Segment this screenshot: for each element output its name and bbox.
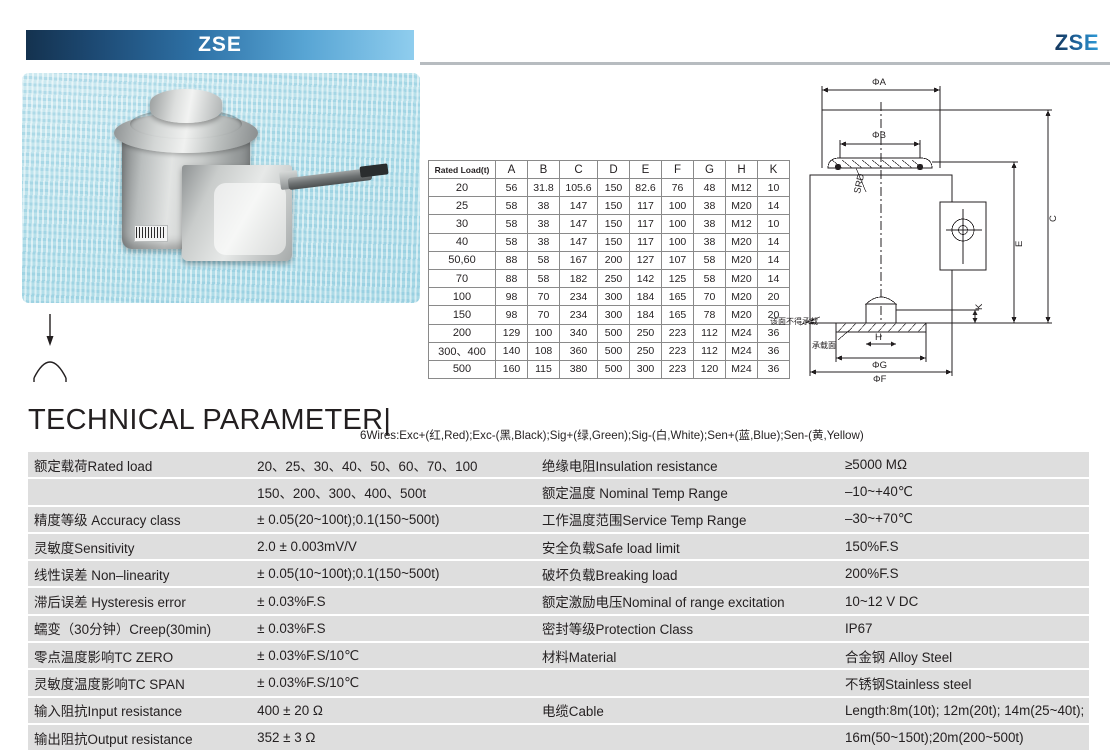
drawing-note-no-load: 该面不得承载 [770,316,818,326]
dimension-cell: M24 [726,342,758,360]
parameter-value: IP67 [839,615,1089,642]
parameter-row: 蠕变（30分钟）Creep(30min)± 0.03%F.S [28,615,536,642]
parameter-key: 电缆Cable [536,697,839,724]
dimension-cell: 165 [662,306,694,324]
parameter-row: 灵敏度Sensitivity2.0 ± 0.003mV/V [28,533,536,560]
parameter-row: 输入阻抗Input resistance400 ± 20 Ω [28,697,536,724]
dimension-cell: 300、400 [429,342,496,360]
dimension-cell: 150 [598,215,630,233]
parameter-value: 16m(50~150t);20m(200~500t) [839,724,1089,750]
dimension-cell: M24 [726,324,758,342]
dimension-cell: M20 [726,197,758,215]
parameter-value: 合金钢 Alloy Steel [839,642,1089,669]
drawing-label-phi-a: ΦA [872,77,887,88]
dimension-cell: 160 [496,360,528,378]
dimension-cell: 107 [662,251,694,269]
dimension-cell: 150 [598,197,630,215]
dimension-cell: 182 [560,269,598,287]
dimension-cell: 82.6 [630,179,662,197]
dimension-cell: 38 [694,215,726,233]
parameter-key: 材料Material [536,642,839,669]
dimension-cell: 58 [496,215,528,233]
parameter-key: 额定温度 Nominal Temp Range [536,478,839,505]
dimension-cell: 70 [528,306,560,324]
parameter-value: Length:8m(10t); 12m(20t); 14m(25~40t); [839,697,1089,724]
parameter-row: 绝缘电阻Insulation resistance≥5000 MΩ [536,452,1089,478]
parameter-key: 精度等级 Accuracy class [28,506,251,533]
parameter-value: ± 0.03%F.S [251,587,536,614]
parameter-row: 工作温度范围Service Temp Range–30~+70℃ [536,506,1089,533]
dimension-cell: 58 [496,233,528,251]
dimension-table: Rated Load(t)ABCDEFGHK205631.8105.615082… [428,160,790,379]
dimension-cell: 300 [630,360,662,378]
dimension-cell: 38 [528,197,560,215]
dimension-cell: 58 [496,197,528,215]
parameter-key [536,724,839,750]
dimension-table-row: 200129100340500250223112M2436 [429,324,790,342]
parameter-value: ± 0.05(20~100t);0.1(150~500t) [251,506,536,533]
parameter-key: 输入阻抗Input resistance [28,697,251,724]
dimension-cell: 340 [560,324,598,342]
dimension-col-header: E [630,161,662,179]
dimension-cell: 500 [598,360,630,378]
dimension-cell: 25 [429,197,496,215]
parameter-key: 零点温度影响TC ZERO [28,642,251,669]
dimension-cell: 500 [429,360,496,378]
dimension-cell: 120 [694,360,726,378]
parameter-table-right: 绝缘电阻Insulation resistance≥5000 MΩ额定温度 No… [536,452,1089,750]
parameter-value: 10~12 V DC [839,587,1089,614]
drawing-label-e: E [1014,241,1025,247]
dimension-cell: 250 [598,269,630,287]
dimension-cell: M20 [726,251,758,269]
parameter-value: ± 0.05(10~100t);0.1(150~500t) [251,560,536,587]
parameter-key: 安全负载Safe load limit [536,533,839,560]
parameter-value: 400 ± 20 Ω [251,697,536,724]
dimension-cell: 38 [694,197,726,215]
dimension-cell: 38 [528,233,560,251]
parameter-row: 16m(50~150t);20m(200~500t) [536,724,1089,750]
dimension-cell: 100 [429,288,496,306]
dimension-cell: 127 [630,251,662,269]
parameter-value: 200%F.S [839,560,1089,587]
dimension-cell: 250 [630,324,662,342]
dimension-table-row: 70885818225014212558M2014 [429,269,790,287]
dimension-cell: M20 [726,288,758,306]
dimension-cell: 300 [598,288,630,306]
parameter-row: 密封等级Protection ClassIP67 [536,615,1089,642]
dimension-cell: 112 [694,324,726,342]
dimension-cell: 38 [694,233,726,251]
dimension-cell: 30 [429,215,496,233]
parameter-value: 不锈钢Stainless steel [839,669,1089,696]
dimension-table-row: 25583814715011710038M2014 [429,197,790,215]
dimension-cell: 125 [662,269,694,287]
dimension-cell: 117 [630,215,662,233]
dimension-cell: 88 [496,269,528,287]
drawing-note-load-surface: 承载面 [812,340,836,350]
dimension-cell: 223 [662,342,694,360]
dimension-cell: 58 [528,269,560,287]
dimension-col-header: G [694,161,726,179]
parameter-value: ± 0.03%F.S [251,615,536,642]
parameter-key: 工作温度范围Service Temp Range [536,506,839,533]
dimension-cell: 40 [429,233,496,251]
dimension-cell: 150 [598,233,630,251]
dimension-cell: 50,60 [429,251,496,269]
parameter-key: 线性误差 Non–linearity [28,560,251,587]
dimension-table-row: 150987023430018416578M2020 [429,306,790,324]
dimension-cell: 360 [560,342,598,360]
dimension-cell: 150 [429,306,496,324]
parameter-row: 精度等级 Accuracy class± 0.05(20~100t);0.1(1… [28,506,536,533]
dimension-cell: 117 [630,197,662,215]
parameter-key: 灵敏度温度影响TC SPAN [28,669,251,696]
load-direction-symbol [28,312,88,382]
parameter-row: 材料Material合金钢 Alloy Steel [536,642,1089,669]
dimension-cell: 98 [496,288,528,306]
dimension-cell: 48 [694,179,726,197]
dimension-cell: 300 [598,306,630,324]
dimension-cell: 38 [528,215,560,233]
parameter-key: 输出阻抗Output resistance [28,724,251,750]
dimension-table-grid: Rated Load(t)ABCDEFGHK205631.8105.615082… [428,160,790,379]
dimension-cell: 70 [429,269,496,287]
parameter-row: 额定激励电压Nominal of range excitation10~12 V… [536,587,1089,614]
brand-logo-right: ZSE [1055,30,1099,56]
dimension-cell: 500 [598,342,630,360]
dimension-table-row: 500160115380500300223120M2436 [429,360,790,378]
dimension-cell: 31.8 [528,179,560,197]
banner-title: ZSE [26,30,414,60]
parameter-row: 安全负载Safe load limit150%F.S [536,533,1089,560]
parameter-value: 352 ± 3 Ω [251,724,536,750]
dimension-cell: 200 [429,324,496,342]
parameter-row: 滞后误差 Hysteresis error± 0.03%F.S [28,587,536,614]
parameter-row: 电缆CableLength:8m(10t); 12m(20t); 14m(25~… [536,697,1089,724]
page-header: ZSE ZSE [0,0,1117,70]
drawing-label-phi-b: ΦB [872,130,886,141]
dimension-cell: 380 [560,360,598,378]
dimension-cell: 147 [560,197,598,215]
dimension-cell: 20 [429,179,496,197]
page-title: TECHNICAL PARAMETER| [28,404,391,437]
dimension-cell: 147 [560,215,598,233]
dimension-cell: 234 [560,288,598,306]
dimension-col-header: A [496,161,528,179]
dimension-cell: 117 [630,233,662,251]
dimension-cell: 223 [662,324,694,342]
dimension-cell: 58 [528,251,560,269]
parameter-key: 蠕变（30分钟）Creep(30min) [28,615,251,642]
dimension-col-header: C [560,161,598,179]
dimension-col-header: F [662,161,694,179]
dimension-cell: 165 [662,288,694,306]
parameter-row: 不锈钢Stainless steel [536,669,1089,696]
dimension-cell: 142 [630,269,662,287]
parameter-key: 灵敏度Sensitivity [28,533,251,560]
parameter-value: –10~+40℃ [839,478,1089,505]
drawing-label-phi-f: ΦF [873,374,887,382]
dimension-table-row: 300、400140108360500250223112M2436 [429,342,790,360]
parameter-row: 额定温度 Nominal Temp Range–10~+40℃ [536,478,1089,505]
parameter-value: 20、25、30、40、50、60、70、100 [251,452,536,478]
dimension-cell: 56 [496,179,528,197]
parameter-key: 破坏负载Breaking load [536,560,839,587]
parameter-key [28,478,251,505]
parameter-key: 额定载荷Rated load [28,452,251,478]
parameter-row: 零点温度影响TC ZERO± 0.03%F.S/10℃ [28,642,536,669]
dimension-cell: 100 [662,215,694,233]
dimension-cell: 147 [560,233,598,251]
parameter-value: ± 0.03%F.S/10℃ [251,642,536,669]
dimension-cell: M12 [726,179,758,197]
parameter-row: 线性误差 Non–linearity± 0.05(10~100t);0.1(15… [28,560,536,587]
parameter-key [536,669,839,696]
wiring-spec: 6Wires:Exc+(红,Red);Exc-(黑,Black);Sig+(绿,… [360,427,864,443]
parameter-row: 150、200、300、400、500t [28,478,536,505]
dimension-table-header-row: Rated Load(t)ABCDEFGHK [429,161,790,179]
load-cell-boss [150,89,222,123]
dimension-col-header: H [726,161,758,179]
drawing-label-h: H [875,332,882,343]
dimension-cell: 140 [496,342,528,360]
parameter-value: 2.0 ± 0.003mV/V [251,533,536,560]
dimension-cell: 100 [528,324,560,342]
dimension-cell: 250 [630,342,662,360]
dimension-cell: M12 [726,215,758,233]
dimension-cell: 105.6 [560,179,598,197]
dimension-cell: 184 [630,288,662,306]
dimension-table-row: 50,60885816720012710758M2014 [429,251,790,269]
parameter-key: 滞后误差 Hysteresis error [28,587,251,614]
dimension-cell: 200 [598,251,630,269]
parameter-row: 灵敏度温度影响TC SPAN± 0.03%F.S/10℃ [28,669,536,696]
drawing-label-c: C [1048,215,1059,222]
drawing-label-phi-g: ΦG [872,360,887,371]
parameter-key: 绝缘电阻Insulation resistance [536,452,839,478]
dimension-cell: 184 [630,306,662,324]
dimension-table-row: 40583814715011710038M2014 [429,233,790,251]
brand-banner: ZSE [26,30,414,60]
dimension-table-row: 100987023430018416570M2020 [429,288,790,306]
dimension-cell: 129 [496,324,528,342]
dimension-table-row: 30583814715011710038M1210 [429,215,790,233]
dimension-cell: 115 [528,360,560,378]
dimension-table-row: 205631.8105.615082.67648M1210 [429,179,790,197]
parameter-value: 150%F.S [839,533,1089,560]
parameter-value: 150、200、300、400、500t [251,478,536,505]
dimension-cell: 70 [694,288,726,306]
dome-icon [34,362,66,378]
dimension-cell: 100 [662,233,694,251]
arrow-head-icon [47,336,54,346]
dimension-cell: 76 [662,179,694,197]
dimension-cell: 98 [496,306,528,324]
parameter-key: 密封等级Protection Class [536,615,839,642]
parameter-row: 额定载荷Rated load20、25、30、40、50、60、70、100 [28,452,536,478]
dimension-cell: 167 [560,251,598,269]
product-photo [22,73,420,303]
dimension-cell: M20 [726,306,758,324]
dimension-cell: 70 [528,288,560,306]
parameter-value: –30~+70℃ [839,506,1089,533]
parameter-row: 输出阻抗Output resistance352 ± 3 Ω [28,724,536,750]
dimension-cell: 223 [662,360,694,378]
dimension-cell: 112 [694,342,726,360]
dimension-col-header: B [528,161,560,179]
dimension-cell: 234 [560,306,598,324]
dimension-cell: 78 [694,306,726,324]
cable-tip [359,163,388,177]
dimension-cell: 500 [598,324,630,342]
dimension-cell: 58 [694,269,726,287]
dimension-col-header: Rated Load(t) [429,161,496,179]
parameter-row: 破坏负载Breaking load200%F.S [536,560,1089,587]
technical-drawing: ΦA ΦB H ΦG ΦF C E K SRD 该面不得承载 承载面 [770,72,1110,382]
dimension-cell: M20 [726,233,758,251]
parameter-key: 额定激励电压Nominal of range excitation [536,587,839,614]
load-cell-cover-plate [214,183,286,255]
dimension-cell: M20 [726,269,758,287]
parameter-value: ≥5000 MΩ [839,452,1089,478]
drawing-label-k: K [974,303,985,310]
dimension-cell: 150 [598,179,630,197]
parameter-table-left: 额定载荷Rated load20、25、30、40、50、60、70、10015… [28,452,536,750]
header-divider [420,62,1110,65]
barcode-icon [136,227,164,238]
dimension-cell: 100 [662,197,694,215]
dimension-col-header: D [598,161,630,179]
dimension-cell: M24 [726,360,758,378]
dimension-cell: 108 [528,342,560,360]
parameter-value: ± 0.03%F.S/10℃ [251,669,536,696]
dimension-cell: 88 [496,251,528,269]
dimension-cell: 58 [694,251,726,269]
